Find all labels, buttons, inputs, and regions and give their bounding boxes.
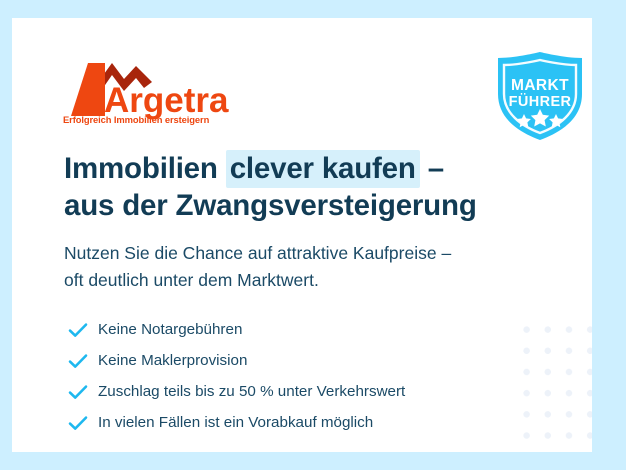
badge-line-1: MARKT bbox=[511, 77, 569, 94]
headline-suffix: – bbox=[420, 152, 444, 185]
headline-prefix: Immobilien bbox=[64, 152, 226, 185]
check-icon bbox=[68, 350, 94, 372]
list-item-label: Keine Maklerprovision bbox=[94, 352, 247, 369]
argetra-tagline: Erfolgreich Immobilien ersteigern bbox=[63, 114, 210, 125]
list-item-label: Keine Notargebühren bbox=[94, 321, 242, 338]
market-leader-badge[interactable]: MARKT FÜHRER bbox=[490, 50, 590, 142]
headline-highlight: clever kaufen bbox=[226, 150, 420, 188]
promo-banner: Argetra Erfolgreich Immobilien ersteiger… bbox=[0, 0, 626, 470]
list-item-label: Zuschlag teils bis zu 50 % unter Verkehr… bbox=[94, 383, 405, 400]
argetra-logo[interactable]: Argetra Erfolgreich Immobilien ersteiger… bbox=[58, 54, 248, 126]
page-title: Immobilien clever kaufen – aus der Zwang… bbox=[64, 150, 584, 224]
argetra-logo-svg: Argetra Erfolgreich Immobilien ersteiger… bbox=[58, 54, 248, 126]
check-icon bbox=[68, 381, 94, 403]
list-item: In vielen Fällen ist ein Vorabkauf mögli… bbox=[68, 407, 548, 438]
check-icon bbox=[68, 412, 94, 434]
check-icon bbox=[68, 319, 94, 341]
argetra-a-stroke-icon bbox=[71, 63, 105, 116]
list-item: Zuschlag teils bis zu 50 % unter Verkehr… bbox=[68, 376, 548, 407]
headline-line-2: aus der Zwangsversteigerung bbox=[64, 187, 584, 224]
list-item-label: In vielen Fällen ist ein Vorabkauf mögli… bbox=[94, 414, 373, 431]
subheading-line-1: Nutzen Sie die Chance auf attraktive Kau… bbox=[64, 240, 564, 267]
subheading-line-2: oft deutlich unter dem Marktwert. bbox=[64, 267, 564, 294]
subheading: Nutzen Sie die Chance auf attraktive Kau… bbox=[64, 240, 564, 294]
market-leader-badge-svg: MARKT FÜHRER bbox=[490, 50, 590, 142]
banner-card: Argetra Erfolgreich Immobilien ersteiger… bbox=[12, 18, 592, 452]
benefits-list: Keine Notargebühren Keine Maklerprovisio… bbox=[68, 314, 548, 438]
headline-line-1: Immobilien clever kaufen – bbox=[64, 150, 444, 188]
list-item: Keine Notargebühren bbox=[68, 314, 548, 345]
badge-line-2: FÜHRER bbox=[509, 93, 572, 110]
list-item: Keine Maklerprovision bbox=[68, 345, 548, 376]
